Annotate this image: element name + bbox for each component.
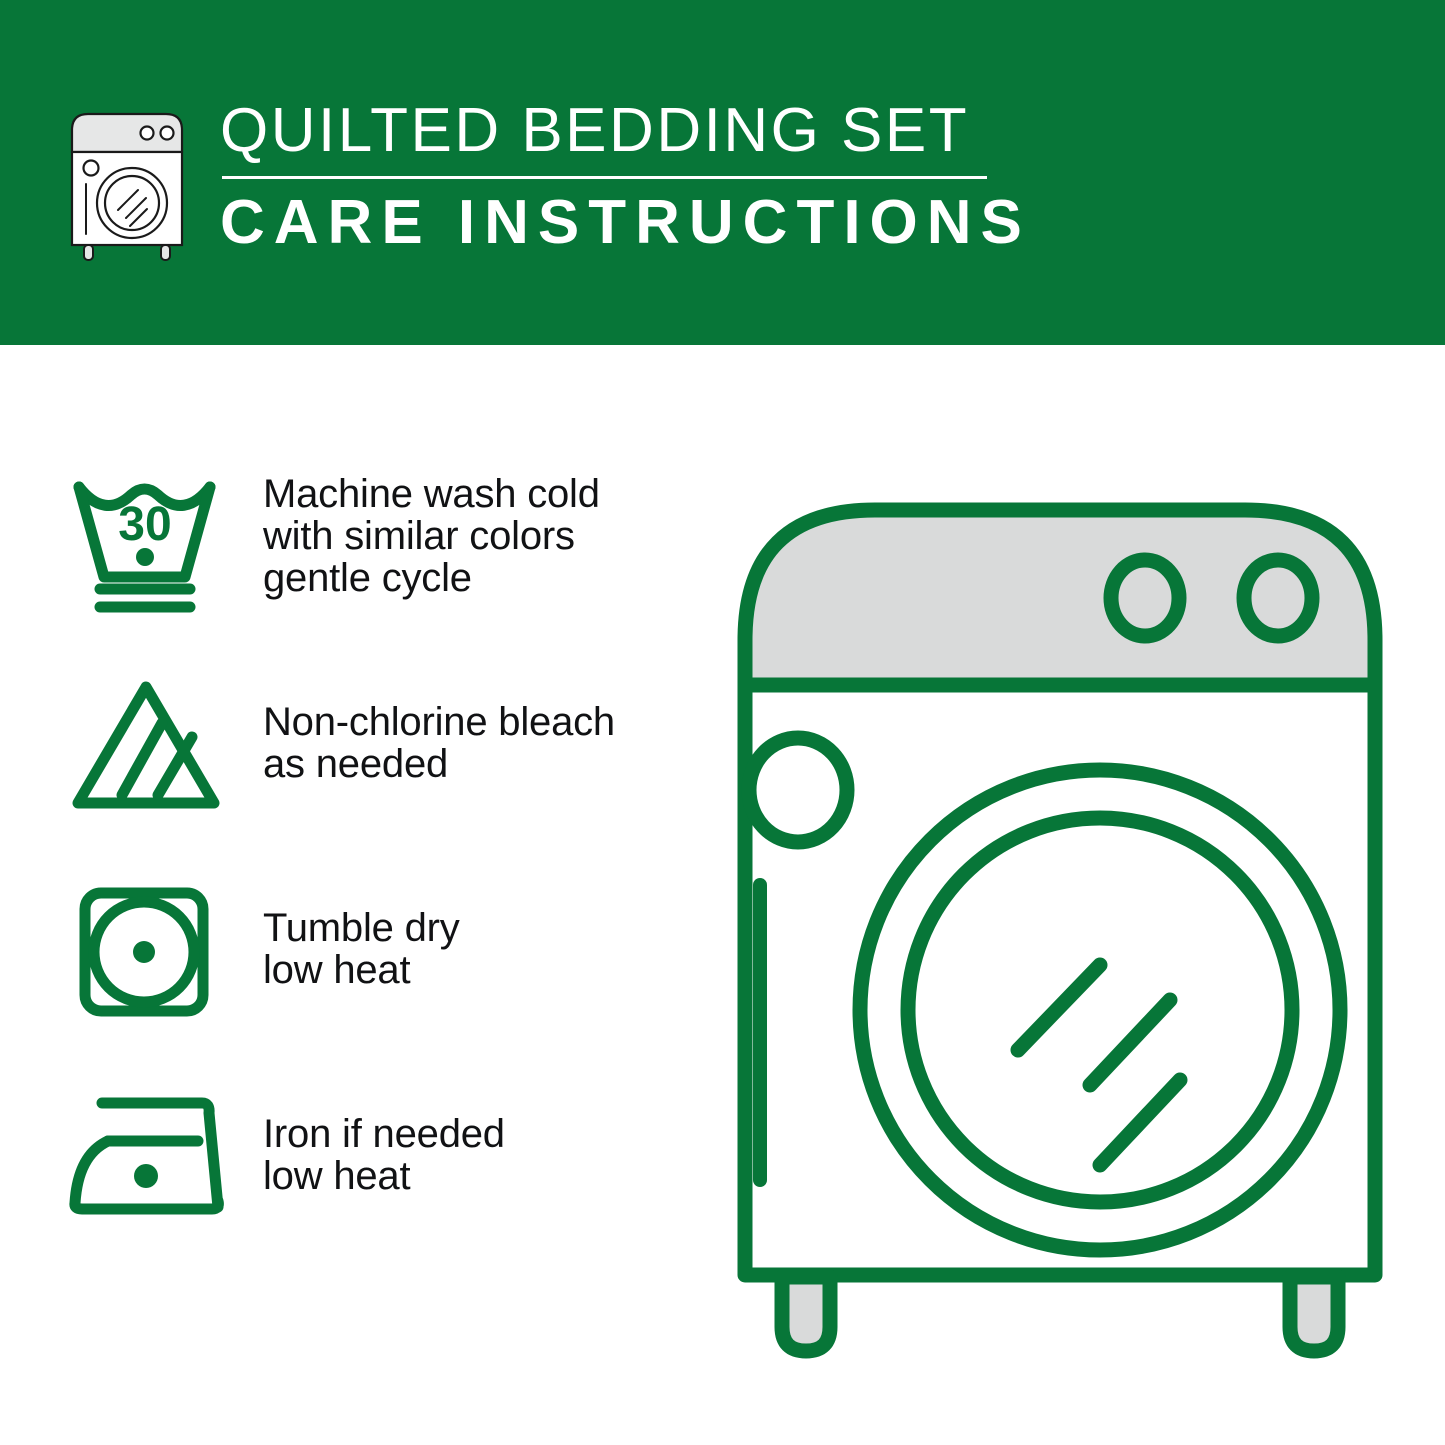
care-label-bleach: Non-chlorine bleach as needed bbox=[263, 671, 615, 785]
header-titles: QUILTED BEDDING SET CARE INSTRUCTIONS bbox=[220, 92, 1031, 257]
care-label-wash: Machine wash cold with similar colors ge… bbox=[263, 465, 600, 599]
care-row-wash: 30 Machine wash cold with similar colors… bbox=[62, 465, 682, 671]
care-instruction-list: 30 Machine wash cold with similar colors… bbox=[62, 465, 682, 1289]
care-row-tumble-dry: Tumble dry low heat bbox=[62, 877, 682, 1083]
washing-machine-illustration bbox=[700, 465, 1420, 1365]
header-content: QUILTED BEDDING SET CARE INSTRUCTIONS bbox=[62, 92, 1031, 265]
main-content: 30 Machine wash cold with similar colors… bbox=[0, 345, 1445, 1445]
washing-machine-icon bbox=[62, 100, 192, 265]
header-band: QUILTED BEDDING SET CARE INSTRUCTIONS bbox=[0, 0, 1445, 345]
care-instructions-page: QUILTED BEDDING SET CARE INSTRUCTIONS bbox=[0, 0, 1445, 1445]
page-title: QUILTED BEDDING SET bbox=[220, 94, 1031, 168]
wash-temperature-label: 30 bbox=[118, 498, 171, 551]
care-label-tumble-dry: Tumble dry low heat bbox=[263, 877, 460, 991]
care-label-iron: Iron if needed low heat bbox=[263, 1083, 505, 1197]
bleach-triangle-icon bbox=[62, 671, 237, 821]
wash-tub-30-icon: 30 bbox=[62, 465, 237, 615]
care-row-bleach: Non-chlorine bleach as needed bbox=[62, 671, 682, 877]
page-subtitle: CARE INSTRUCTIONS bbox=[220, 189, 1031, 257]
tumble-dry-icon bbox=[62, 877, 237, 1027]
title-divider bbox=[222, 176, 987, 179]
care-row-iron: Iron if needed low heat bbox=[62, 1083, 682, 1289]
iron-icon bbox=[62, 1083, 237, 1233]
